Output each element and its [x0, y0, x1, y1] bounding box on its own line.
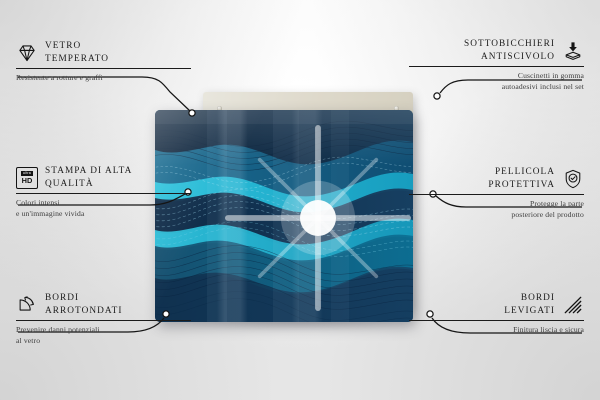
glass-board-artwork	[155, 110, 413, 322]
feature-description: Colori intensi e un'immagine vivida	[16, 198, 191, 219]
polished-edge-icon	[562, 294, 584, 316]
feature-title-line2: LEVIGATI	[504, 305, 555, 318]
ultra-hd-icon: ultra HD	[16, 167, 38, 189]
wave-pattern-artwork	[155, 110, 413, 322]
feature-divider	[16, 320, 191, 321]
feature-description: Protegge la parte posteriore del prodott…	[409, 199, 584, 220]
feature-description: Resistente a rotture e graffi	[16, 73, 191, 84]
feature-desc-line2: posteriore del prodotto	[409, 210, 584, 221]
feature-desc-line1: Resistente a rotture e graffi	[16, 73, 191, 84]
feature-title-line1: VETRO	[45, 40, 109, 53]
feature-title-line2: TEMPERATO	[45, 53, 109, 66]
anti-slip-pad-icon	[562, 40, 584, 62]
feature-description: Finitura liscia e sicura	[409, 325, 584, 336]
rounded-corner-icon	[16, 294, 38, 316]
feature-desc-line2: e un'immagine vivida	[16, 209, 191, 220]
shield-check-icon	[562, 168, 584, 190]
feature-title-line2: PROTETTIVA	[488, 179, 555, 192]
feature-title-line1: BORDI	[504, 292, 555, 305]
feature-vetro-temperato: VETRO TEMPERATO Resistente a rotture e g…	[16, 40, 191, 84]
feature-divider	[409, 66, 584, 67]
feature-title-line2: ARROTONDATI	[45, 305, 123, 318]
feature-desc-line1: Prevenire danni potenziali	[16, 325, 191, 336]
feature-desc-line1: Protegge la parte	[409, 199, 584, 210]
feature-stampa-di-alta-qualita: ultra HD STAMPA DI ALTA QUALITÀ Colori i…	[16, 165, 191, 219]
feature-desc-line1: Cuscinetti in gomma	[409, 71, 584, 82]
feature-divider	[409, 194, 584, 195]
feature-bordi-levigati: BORDI LEVIGATI Finitura liscia e sicura	[409, 292, 584, 336]
feature-desc-line1: Finitura liscia e sicura	[409, 325, 584, 336]
infographic-canvas: VETRO TEMPERATO Resistente a rotture e g…	[0, 0, 600, 400]
feature-desc-line2: autoadesivi inclusi nel set	[409, 82, 584, 93]
feature-title-line2: ANTISCIVOLO	[464, 51, 555, 64]
feature-description: Prevenire danni potenziali al vetro	[16, 325, 191, 346]
feature-title-line2: QUALITÀ	[45, 178, 132, 191]
feature-desc-line1: Colori intensi	[16, 198, 191, 209]
feature-title-line1: PELLICOLA	[488, 166, 555, 179]
diamond-icon	[16, 42, 38, 64]
hd-label: HD	[22, 177, 33, 184]
feature-title-line1: BORDI	[45, 292, 123, 305]
feature-pellicola-protettiva: PELLICOLA PROTETTIVA Protegge la parte p…	[409, 166, 584, 220]
feature-bordi-arrotondati: BORDI ARROTONDATI Prevenire danni potenz…	[16, 292, 191, 346]
feature-sottobicchieri-antiscivolo: SOTTOBICCHIERI ANTISCIVOLO Cuscinetti in…	[409, 38, 584, 92]
feature-title-line1: STAMPA DI ALTA	[45, 165, 132, 178]
feature-divider	[409, 320, 584, 321]
feature-desc-line2: al vetro	[16, 336, 191, 347]
feature-title-line1: SOTTOBICCHIERI	[464, 38, 555, 51]
feature-divider	[16, 68, 191, 69]
feature-description: Cuscinetti in gomma autoadesivi inclusi …	[409, 71, 584, 92]
feature-divider	[16, 193, 191, 194]
